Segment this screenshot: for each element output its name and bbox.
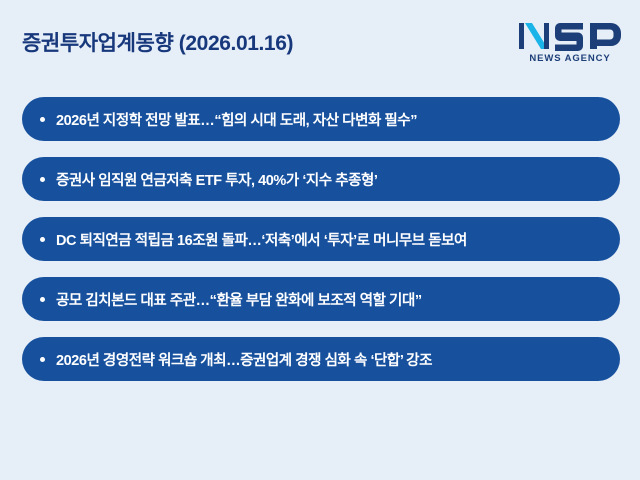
headline-item[interactable]: 증권사 임직원 연금저축 ETF 투자, 40%가 ‘지수 추종형’ (22, 157, 620, 201)
headline-item[interactable]: DC 퇴직연금 적립금 16조원 돌파…‘저축’에서 ‘투자’로 머니무브 돋보… (22, 217, 620, 261)
headline-text: 2026년 지정학 전망 발표…“힘의 시대 도래, 자산 다변화 필수” (56, 109, 604, 130)
page-title: 증권투자업계동향 (2026.01.16) (22, 27, 293, 57)
nsp-logo-subtitle: NEWS AGENCY (518, 53, 622, 64)
bullet-icon (40, 297, 45, 302)
headline-text: 증권사 임직원 연금저축 ETF 투자, 40%가 ‘지수 추종형’ (56, 169, 604, 190)
headline-list: 2026년 지정학 전망 발표…“힘의 시대 도래, 자산 다변화 필수” 증권… (22, 97, 620, 381)
bullet-icon (40, 177, 45, 182)
bullet-icon (40, 117, 45, 122)
headline-item[interactable]: 2026년 경영전략 워크숍 개최…증권업계 경쟁 심화 속 ‘단합’ 강조 (22, 337, 620, 381)
bullet-icon (40, 237, 45, 242)
headline-text: 공모 김치본드 대표 주관…“환율 부담 완화에 보조적 역할 기대” (56, 289, 604, 310)
nsp-logo-mark (518, 20, 622, 52)
bullet-icon (40, 357, 45, 362)
headline-item[interactable]: 2026년 지정학 전망 발표…“힘의 시대 도래, 자산 다변화 필수” (22, 97, 620, 141)
headline-item[interactable]: 공모 김치본드 대표 주관…“환율 부담 완화에 보조적 역할 기대” (22, 277, 620, 321)
headline-text: DC 퇴직연금 적립금 16조원 돌파…‘저축’에서 ‘투자’로 머니무브 돋보… (56, 229, 604, 250)
page-header: 증권투자업계동향 (2026.01.16) NEWS AGENCY (0, 0, 640, 88)
headline-text: 2026년 경영전략 워크숍 개최…증권업계 경쟁 심화 속 ‘단합’ 강조 (56, 349, 604, 370)
nsp-logo: NEWS AGENCY (518, 20, 622, 68)
